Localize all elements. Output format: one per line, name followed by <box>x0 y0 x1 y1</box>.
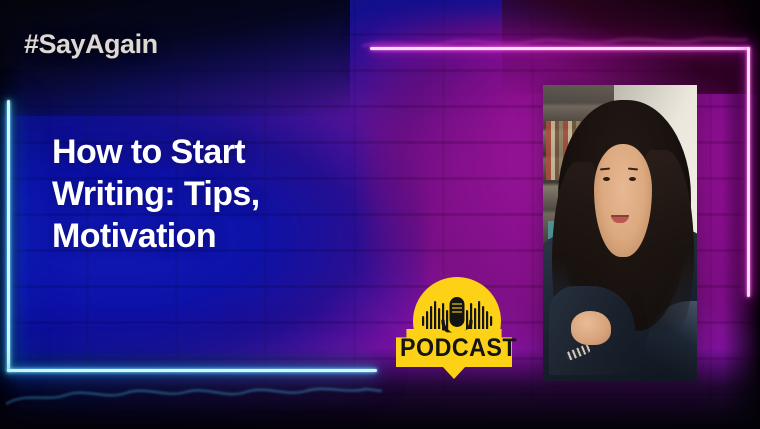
podcast-badge-pointer <box>442 366 466 379</box>
photo-eye-right <box>629 177 636 181</box>
host-photo <box>543 85 697 381</box>
episode-title: How to Start Writing: Tips, Motivation <box>52 131 382 257</box>
episode-title-line-2: Writing: Tips, <box>52 173 382 215</box>
episode-title-line-3: Motivation <box>52 215 382 257</box>
podcast-thumbnail: #SayAgain How to Start Writing: Tips, Mo… <box>0 0 760 429</box>
channel-hashtag: #SayAgain <box>24 29 158 60</box>
neon-line-magenta-right <box>747 47 750 297</box>
podcast-badge-label: PODCAST <box>400 334 508 363</box>
neon-cyan-reflection <box>4 378 384 412</box>
photo-eye-left <box>603 177 610 181</box>
neon-line-cyan-left <box>7 100 10 372</box>
neon-line-cyan-bottom <box>7 369 377 372</box>
episode-title-line-1: How to Start <box>52 131 382 173</box>
photo-hand <box>571 311 611 345</box>
neon-line-magenta-top <box>370 47 750 50</box>
podcast-badge: PODCAST <box>390 274 518 380</box>
